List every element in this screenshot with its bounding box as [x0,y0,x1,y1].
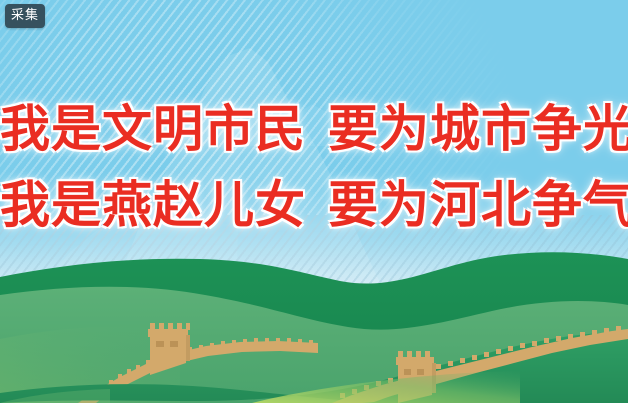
headline-line-2-left: 我是燕赵儿女 [0,176,306,234]
headline-line-2-right: 要为河北争气 [328,176,628,234]
headline-line-1: 我是文明市民要为城市争光 [0,104,628,154]
capture-button[interactable]: 采集 [5,4,45,28]
banner-screenshot: 我是文明市民要为城市争光 我是燕赵儿女要为河北争气 采集 [0,0,628,403]
headline-line-1-right: 要为城市争光 [328,100,628,158]
headline-line-2: 我是燕赵儿女要为河北争气 [0,180,628,230]
landscape-illustration [0,243,628,403]
headline-line-1-left: 我是文明市民 [0,100,306,158]
